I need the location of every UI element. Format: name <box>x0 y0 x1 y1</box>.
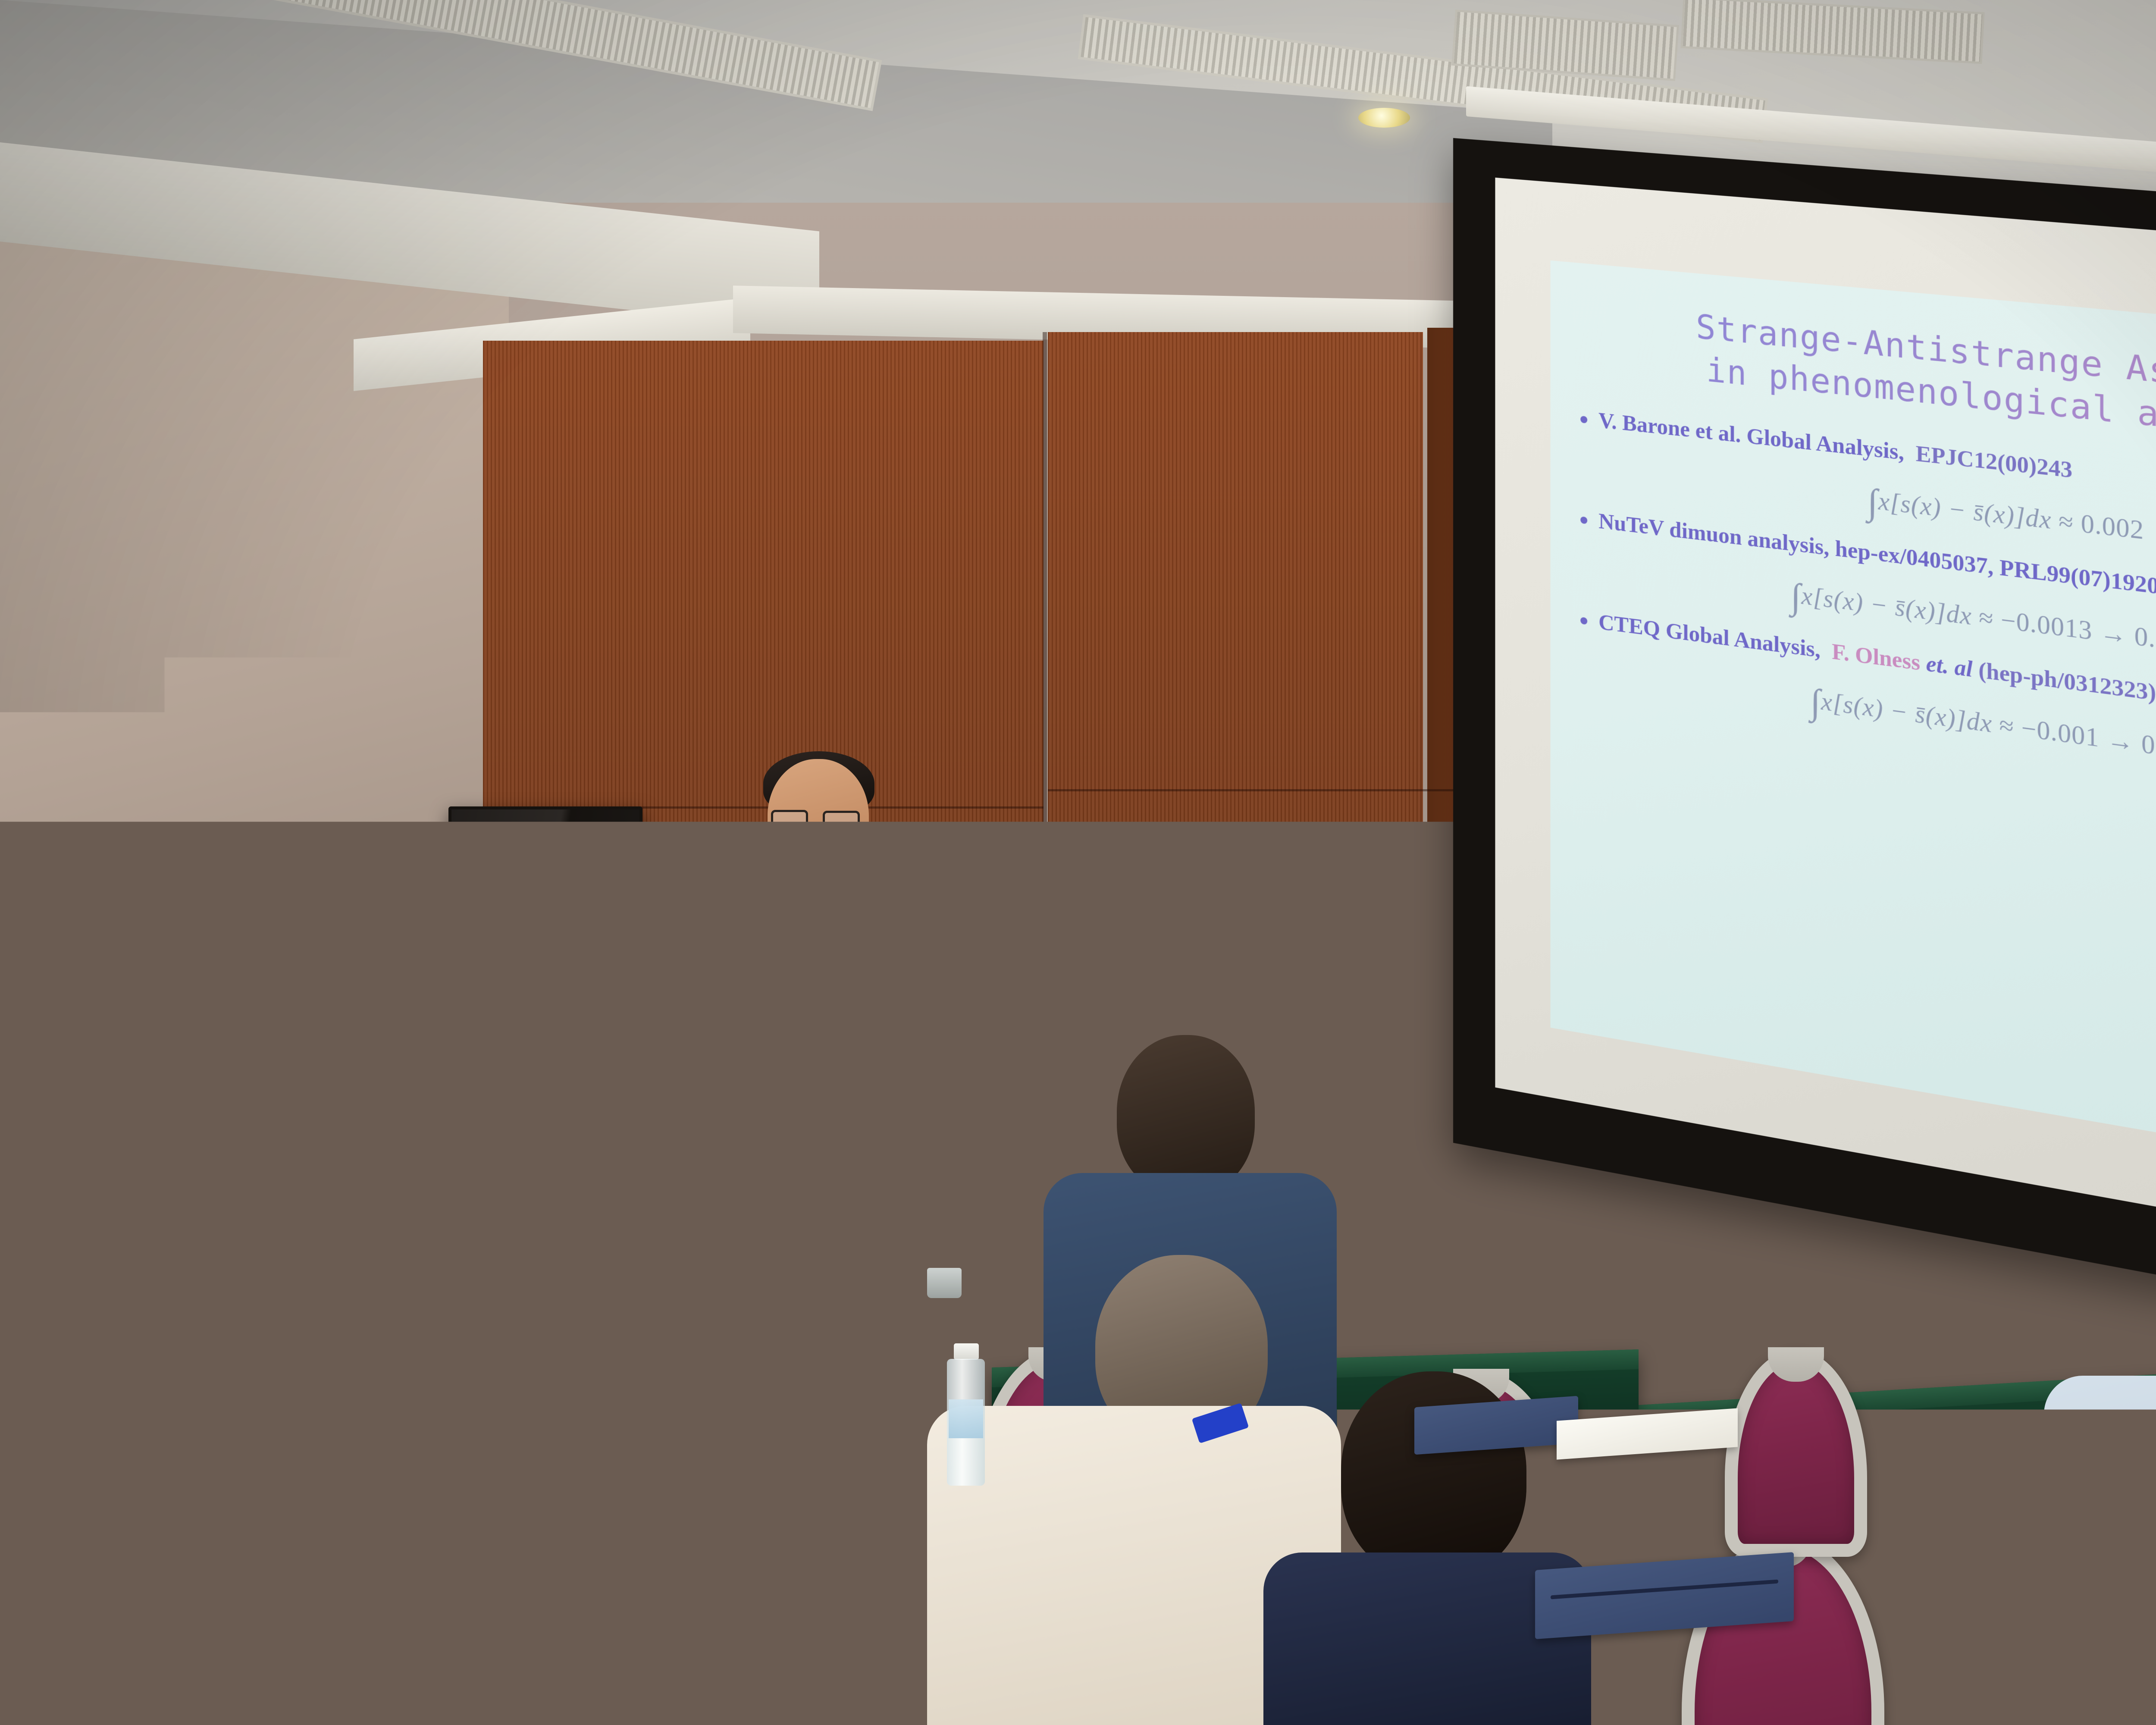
bullet-3-main: CTEQ Global Analysis, <box>1598 609 1821 662</box>
podium-sign-text: 大连理工大学 国际会议中心 DUT INTERNATIONAL CONVENTI… <box>718 1116 911 1203</box>
folder-badge <box>354 1662 436 1712</box>
conference-room-photo: Redleaf Strange-Antistrange Asymmetry in… <box>0 0 2156 1725</box>
plastic-water-bottle <box>944 1343 987 1486</box>
banquet-chair-10 <box>1725 1350 1867 1557</box>
projected-slide: Strange-Antistrange Asymmetry in phenome… <box>1551 260 2156 1192</box>
pa-speaker-horn <box>477 835 568 900</box>
eq1-body: x[s(x) − s̄(x)]dx <box>1878 487 2052 535</box>
sign-english-name: DUT INTERNATIONAL CONVENTION CENTER <box>718 1174 911 1203</box>
bullet-dot-icon <box>1580 517 1587 524</box>
bullet-3-author: F. Olness <box>1832 639 1920 675</box>
eq1-integral-sign: ∫ <box>1868 481 1878 523</box>
pa-speaker-badge-1 <box>503 902 529 913</box>
eq2-value: −0.0013 → 0.00196 <box>2001 606 2156 662</box>
bottle-label <box>949 1399 983 1438</box>
eq1-value: 0.002 <box>2081 510 2144 546</box>
eq3-value: −0.001 → 0.004 <box>2021 714 2156 767</box>
lanyard-loop-on-folder <box>302 1673 354 1719</box>
wood-panel-seam-h2 <box>1048 789 1462 791</box>
eq3-integral-sign: ∫ <box>1810 681 1821 723</box>
projector-screen-surface: Strange-Antistrange Asymmetry in phenome… <box>1495 178 2156 1284</box>
eq1-relation: ≈ <box>2059 507 2074 537</box>
apple-logo-icon <box>747 1060 762 1078</box>
eq2-integral-sign: ∫ <box>1791 575 1802 617</box>
bullet-dot-icon <box>1580 416 1587 423</box>
conference-folder-2[interactable] <box>457 1405 647 1467</box>
microphone-mount-crossbar <box>152 1005 205 1015</box>
drinking-glass <box>927 1268 962 1298</box>
pa-speaker-port <box>559 840 628 883</box>
thermos-blue-ring <box>169 1446 217 1461</box>
eq2-body: x[s(x) − s̄(x)]dx <box>1801 582 1971 631</box>
podium: 大连理工大学 国际会议中心 DUT INTERNATIONAL CONVENTI… <box>625 1091 936 1307</box>
bullet-dot-icon <box>1580 617 1587 625</box>
handout-paper-2[interactable] <box>655 1479 897 1531</box>
eq3-relation: ≈ <box>1999 711 2015 741</box>
presenter-glasses <box>771 810 866 828</box>
podium-sign: 大连理工大学 国际会议中心 DUT INTERNATIONAL CONVENTI… <box>641 1105 921 1212</box>
eq3-body: x[s(x) − s̄(x)]dx <box>1821 688 1992 739</box>
eq2-relation: ≈ <box>1979 603 1994 634</box>
attendee-head <box>1117 1035 1255 1195</box>
av-rack-power-led <box>155 1190 166 1196</box>
bullet-3-reference: (hep-ph/0312323), <box>1978 657 2156 706</box>
thermos-cap <box>174 1423 213 1448</box>
attendee-head <box>289 1138 431 1307</box>
bullet-1-reference: EPJC12(00)243 <box>1916 441 2072 483</box>
bullet-3-author-suffix: et. al <box>1926 651 1973 682</box>
pa-speaker-badge-2 <box>563 888 623 897</box>
dut-seal-logo-icon <box>652 1127 707 1184</box>
attendee-far-right <box>2113 1527 2156 1725</box>
microphone-base <box>142 1048 224 1073</box>
ceiling-downlight-3 <box>1358 108 1410 128</box>
sign-center-name: 国际会议中心 <box>718 1142 911 1179</box>
pa-speaker <box>448 806 642 1057</box>
left-wall <box>0 185 509 1067</box>
bottle-cap <box>954 1343 979 1360</box>
